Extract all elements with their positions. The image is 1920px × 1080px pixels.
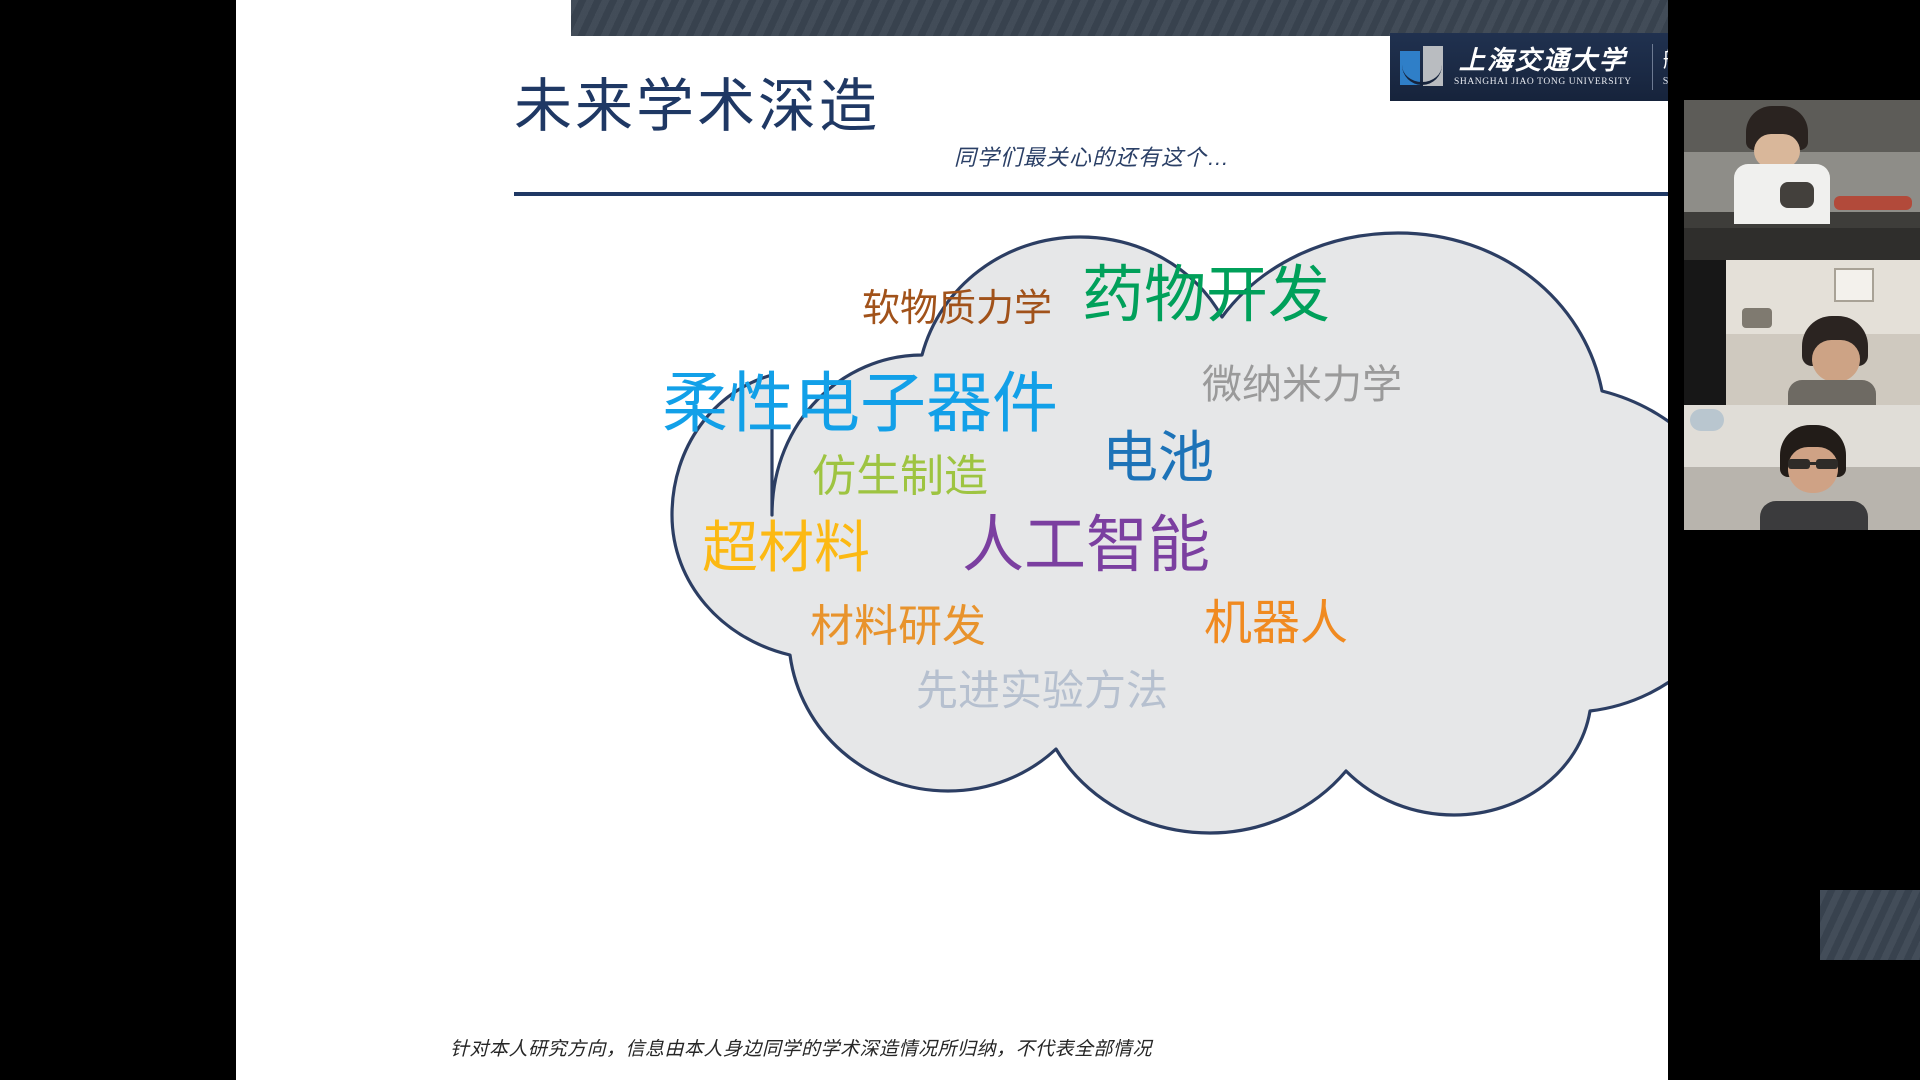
school-name-cn: 船舶海洋与建筑工程学院 [1663, 47, 1668, 72]
word-cloud-item: 机器人 [1204, 600, 1348, 648]
word-cloud-item: 柔性电子器件 [662, 370, 1058, 436]
school-name-en: School of Naval Architecture, Ocean & Ci… [1663, 76, 1668, 87]
video-tile-participant-3[interactable] [1684, 405, 1920, 530]
word-cloud-item: 药物开发 [1082, 265, 1330, 327]
slide-footnote: 针对本人研究方向，信息由本人身边同学的学术深造情况所归纳，不代表全部情况 [450, 1034, 1152, 1061]
word-cloud-item: 超材料 [702, 520, 870, 576]
sjtu-logo-banner: 上海交通大学 SHANGHAI JIAO TONG UNIVERSITY 船舶海… [1390, 33, 1668, 101]
word-cloud-item: 材料研发 [810, 605, 986, 649]
corner-stripe-pattern [1820, 890, 1920, 960]
university-name-en: SHANGHAI JIAO TONG UNIVERSITY [1454, 77, 1632, 87]
university-name-block: 上海交通大学 SHANGHAI JIAO TONG UNIVERSITY [1454, 47, 1632, 86]
logo-divider [1652, 44, 1653, 90]
screen-root: 上海交通大学 SHANGHAI JIAO TONG UNIVERSITY 船舶海… [0, 0, 1920, 1080]
word-cloud-item: 软物质力学 [862, 290, 1052, 328]
video-tile-participant-2[interactable] [1684, 260, 1920, 405]
video-tile-participant-1[interactable] [1684, 100, 1920, 260]
left-letterbox [0, 0, 236, 1080]
corner-stripe-box [1820, 890, 1920, 960]
word-cloud-item: 先进实验方法 [916, 670, 1168, 712]
slide-top-strip [571, 0, 1668, 36]
word-cloud: 软物质力学药物开发柔性电子器件微纳米力学仿生制造电池超材料人工智能材料研发机器人… [522, 215, 1668, 835]
word-cloud-item: 微纳米力学 [1202, 365, 1402, 405]
presentation-slide: 上海交通大学 SHANGHAI JIAO TONG UNIVERSITY 船舶海… [236, 0, 1668, 1080]
school-name-block: 船舶海洋与建筑工程学院 School of Naval Architecture… [1663, 47, 1668, 86]
stripe-pattern [571, 0, 1668, 36]
word-cloud-item: 电池 [1102, 430, 1214, 486]
slide-subtitle: 同学们最关心的还有这个… [954, 140, 1230, 172]
sjtu-emblem-icon [1400, 44, 1446, 90]
university-name-cn: 上海交通大学 [1459, 47, 1627, 74]
word-cloud-item: 仿生制造 [812, 455, 988, 499]
title-underline-rule [514, 192, 1668, 196]
slide-title: 未来学术深造 [514, 78, 880, 136]
word-cloud-item: 人工智能 [962, 515, 1210, 577]
